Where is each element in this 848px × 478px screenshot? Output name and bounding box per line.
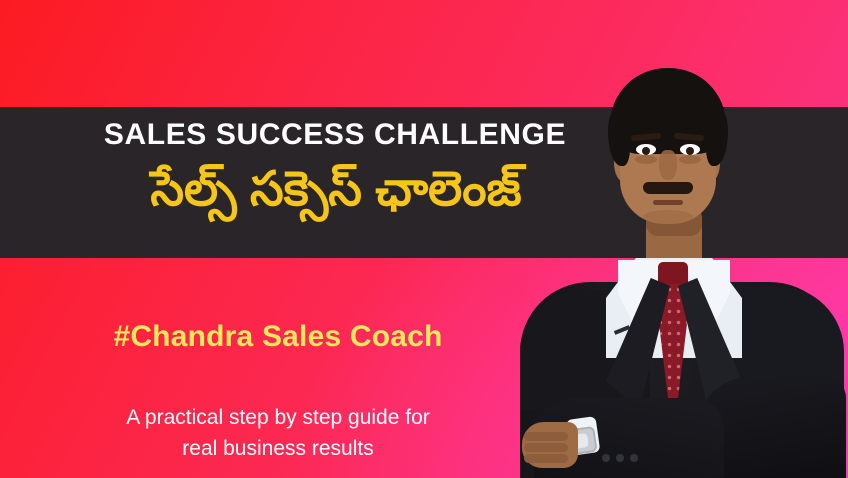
under-eye-shadow-right: [679, 155, 701, 164]
mouth: [653, 200, 683, 205]
hashtag-coach-handle: #Chandra Sales Coach: [0, 320, 556, 354]
finger: [524, 454, 568, 463]
sleeve-button: [616, 454, 624, 462]
presenter-photo: [498, 46, 848, 478]
under-eye-shadow-left: [635, 155, 657, 164]
hair-side-left: [608, 108, 630, 166]
finger: [524, 443, 568, 452]
finger: [524, 432, 568, 441]
subtitle-line-1: A practical step by step guide for: [0, 402, 556, 433]
moustache: [643, 182, 693, 194]
hair-side-right: [706, 108, 728, 166]
pupil-left: [642, 147, 650, 155]
subtitle: A practical step by step guide for real …: [0, 402, 556, 464]
sleeve-button: [602, 454, 610, 462]
promo-poster: SALES SUCCESS CHALLENGE సేల్స్ సక్సెస్ ఛ…: [0, 0, 848, 478]
pupil-right: [686, 147, 694, 155]
subtitle-line-2: real business results: [0, 433, 556, 464]
nose: [659, 150, 677, 180]
sleeve-buttons: [602, 454, 646, 464]
chin-shading: [643, 210, 693, 224]
sleeve-button: [630, 454, 638, 462]
